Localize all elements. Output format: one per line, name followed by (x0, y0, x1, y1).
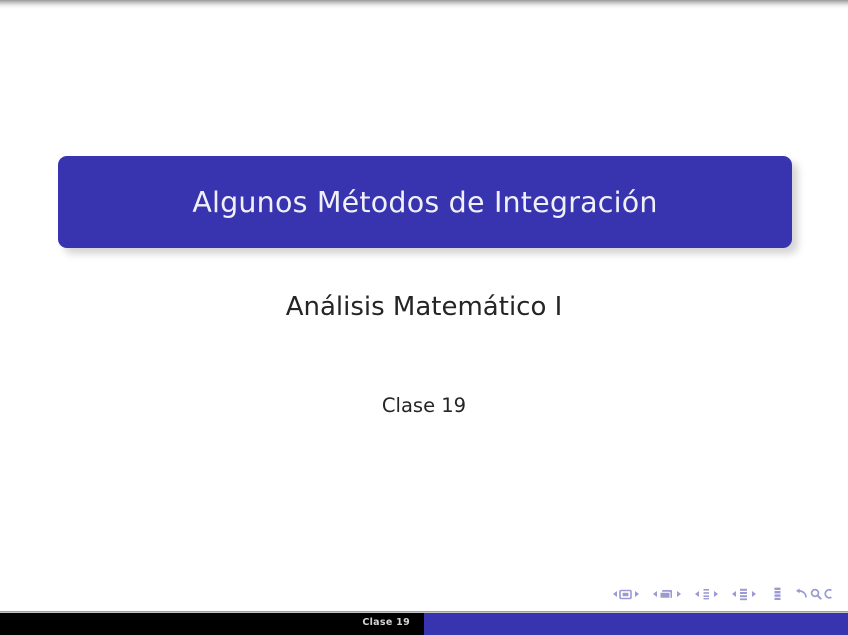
footline-title-label: Clase 19 (362, 617, 410, 628)
back-icon[interactable] (795, 588, 808, 600)
slide-date: Clase 19 (0, 394, 848, 417)
section-icon[interactable] (738, 588, 749, 601)
previous-frame-icon[interactable] (653, 591, 657, 597)
slide-top-border (0, 0, 848, 9)
footline-left-section: Clase 19 (0, 613, 424, 635)
beamer-slide: Algunos Métodos de Integración Análisis … (0, 0, 848, 635)
previous-slide-icon[interactable] (613, 591, 617, 597)
next-frame-icon[interactable] (677, 591, 681, 597)
frame-icon[interactable] (659, 588, 674, 600)
goto-icon[interactable] (823, 588, 834, 600)
slide-title: Algunos Métodos de Integración (192, 186, 657, 219)
next-section-icon[interactable] (752, 591, 756, 597)
presentation-icon[interactable] (773, 587, 782, 601)
slide-icon[interactable] (619, 589, 632, 600)
previous-section-icon[interactable] (732, 591, 736, 597)
subsection-icon[interactable] (701, 588, 711, 600)
next-subsection-icon[interactable] (714, 591, 718, 597)
next-slide-icon[interactable] (635, 591, 639, 597)
find-icon[interactable] (810, 588, 822, 600)
footline-right-section (424, 613, 848, 635)
section-navigation-group[interactable] (729, 588, 758, 601)
frame-navigation-group[interactable] (650, 588, 683, 600)
title-block-background: Algunos Métodos de Integración (58, 156, 792, 248)
slide-author: Análisis Matemático I (0, 292, 848, 322)
slide-navigation-group[interactable] (610, 589, 641, 600)
title-block: Algunos Métodos de Integración (58, 156, 792, 248)
previous-subsection-icon[interactable] (695, 591, 699, 597)
navigation-symbols[interactable] (610, 585, 834, 603)
footline: Clase 19 (0, 611, 848, 635)
subsection-navigation-group[interactable] (692, 588, 720, 600)
